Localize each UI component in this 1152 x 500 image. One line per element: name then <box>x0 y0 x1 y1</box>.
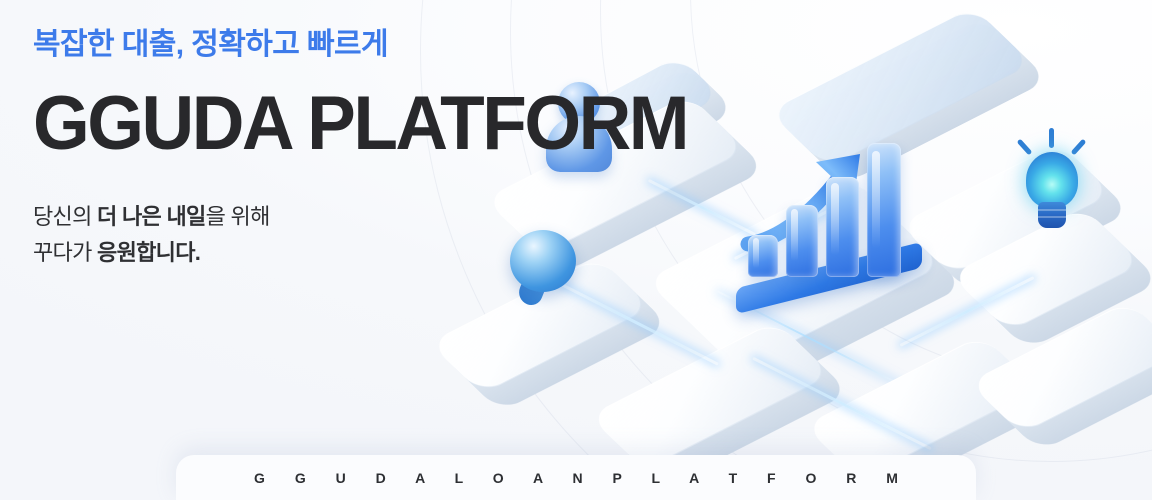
hero-banner: 복잡한 대출, 정확하고 빠르게 GGUDA PLATFORM 당신의 더 나은… <box>0 0 1152 500</box>
subtitle-line2-part2: 응원합니다. <box>97 240 200 265</box>
bulb-base <box>1038 202 1066 228</box>
bar-chart-icon <box>728 142 938 317</box>
wordmark-card: G G U D A L O A N P L A T F O R M <box>176 455 976 500</box>
subtitle-line2-part1: 꾸다가 <box>33 240 97 265</box>
chart-bar <box>867 143 901 277</box>
bulb-glass <box>1026 152 1078 208</box>
subtitle-line1-part2: 더 나은 내일 <box>97 204 206 229</box>
page-title: GGUDA PLATFORM <box>33 89 571 159</box>
chart-bar <box>786 205 818 277</box>
hero-copy: 복잡한 대출, 정확하고 빠르게 GGUDA PLATFORM 당신의 더 나은… <box>33 26 593 270</box>
chart-bar <box>826 177 859 277</box>
subtitle-text: 당신의 더 나은 내일을 위해 꾸다가 응원합니다. <box>33 199 593 270</box>
chart-bar <box>748 235 778 277</box>
wordmark-text: G G U D A L O A N P L A T F O R M <box>241 470 911 486</box>
eyebrow-text: 복잡한 대출, 정확하고 빠르게 <box>33 26 593 63</box>
subtitle-line1-part1: 당신의 <box>33 204 97 229</box>
lightbulb-icon <box>1012 128 1090 236</box>
subtitle-line1-part3: 을 위해 <box>206 204 270 229</box>
